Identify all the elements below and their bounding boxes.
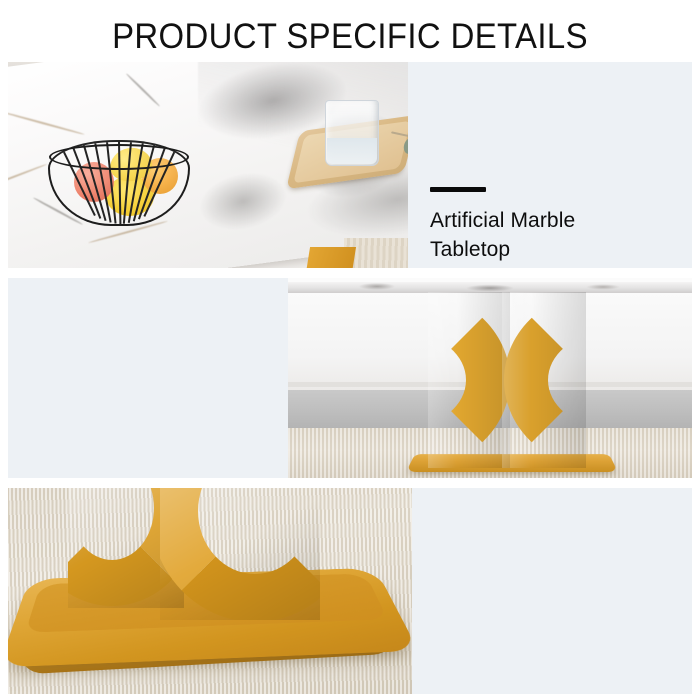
- marble-tabletop-photo: [8, 62, 408, 268]
- gold-leg-right: [502, 292, 586, 468]
- caption-rule: [430, 187, 486, 192]
- marble-vein: [8, 111, 85, 136]
- support-leg-photo: [288, 278, 692, 478]
- gold-leg-foot-right: [160, 488, 320, 620]
- mdf-base-photo: [8, 488, 412, 694]
- caption-line: Artificial Marble: [430, 206, 575, 235]
- page-title: PRODUCT SPECIFIC DETAILS: [21, 16, 679, 58]
- marble-vein: [126, 73, 161, 107]
- pitcher-water: [327, 138, 377, 164]
- section-support-leg: Strong Support Leg: [8, 278, 692, 478]
- glass-pitcher: [325, 100, 379, 166]
- product-details-infographic: PRODUCT SPECIFIC DETAILS: [0, 0, 700, 700]
- caption-marble-tabletop: Artificial Marble Tabletop: [430, 187, 575, 264]
- section-mdf-base: MDF Base Stable Support: [8, 488, 692, 694]
- section-marble-tabletop: Artificial Marble Tabletop: [8, 62, 692, 268]
- caption-line: Tabletop: [430, 235, 575, 264]
- wire-fruit-basket: [48, 140, 190, 226]
- basket-rim: [49, 144, 189, 170]
- gold-leg-edge: [306, 247, 356, 268]
- marble-vein: [8, 163, 47, 191]
- gold-leg-left: [428, 292, 510, 468]
